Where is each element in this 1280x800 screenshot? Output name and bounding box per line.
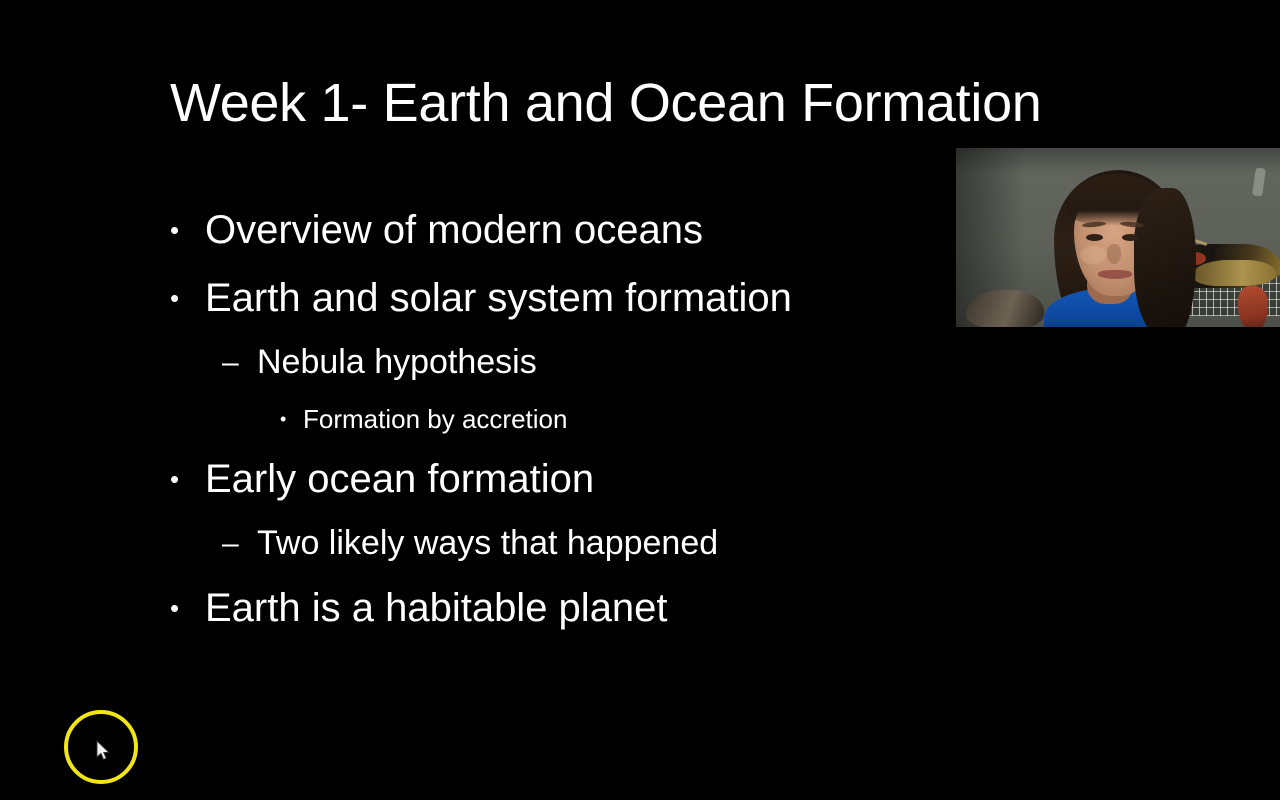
background-object [1238,286,1268,327]
presenter-webcam-video[interactable] [956,148,1280,327]
bullet-text: Overview of modern oceans [205,196,703,264]
presenter-eye [1086,234,1103,241]
slide-title: Week 1- Earth and Ocean Formation [170,72,1050,134]
cursor-highlight-ring [64,710,138,784]
bullet-item: • Formation by accretion [280,393,990,445]
presenter-eye [1122,234,1139,241]
bullet-item: – Nebula hypothesis [222,332,990,393]
bullet-marker-icon: • [280,393,303,445]
slide-bullet-list: • Overview of modern oceans • Earth and … [170,196,990,642]
bullet-text: Earth and solar system formation [205,264,792,332]
bullet-marker-icon: • [170,445,205,513]
bullet-marker-icon: • [170,264,205,332]
bullet-item: • Earth and solar system formation [170,264,990,332]
bullet-item: • Overview of modern oceans [170,196,990,264]
bullet-item: • Earth is a habitable planet [170,574,990,642]
bullet-item: – Two likely ways that happened [222,513,990,574]
bullet-marker-icon: • [170,196,205,264]
bullet-text: Nebula hypothesis [257,332,537,393]
bullet-text: Earth is a habitable planet [205,574,668,642]
webcam-scene [956,148,1280,327]
presenter-face-highlight [1080,246,1106,264]
bullet-text: Formation by accretion [303,393,567,445]
bullet-text: Two likely ways that happened [257,513,718,574]
bullet-dash-icon: – [222,513,257,574]
presenter-nose [1107,244,1121,264]
background-object [1192,260,1276,286]
bullet-dash-icon: – [222,332,257,393]
bullet-text: Early ocean formation [205,445,594,513]
bullet-item: • Early ocean formation [170,445,990,513]
presenter-mouth [1098,270,1132,279]
background-object [966,290,1044,327]
bullet-marker-icon: • [170,574,205,642]
presentation-slide: Week 1- Earth and Ocean Formation • Over… [0,0,1280,800]
presenter-hair-side [1134,188,1196,327]
